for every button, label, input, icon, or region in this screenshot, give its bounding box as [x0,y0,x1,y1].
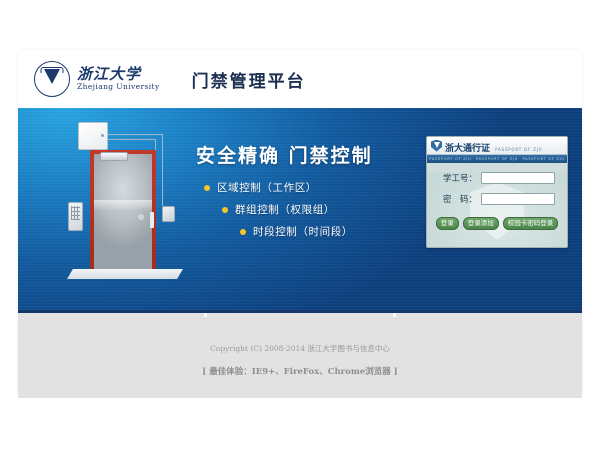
strip-word: PASSPORT OF ZJU [523,157,565,161]
door-leaf [94,154,152,272]
bullet-icon [204,185,210,191]
copyright-text: Copyright (C) 2008-2014 浙江大学图书与信息中心 [18,343,582,354]
feature-label: 群组控制（权限组） [235,202,335,217]
shield-icon [431,140,442,152]
page-container: 浙江大学 Zhejiang University 门禁管理平台 [18,50,582,395]
login-panel-watermark-strip: PASSPORT OF ZJU PASSPORT OF ZJU PASSPORT… [427,155,567,163]
username-input[interactable] [481,172,555,184]
login-button-row: 登录 登录添加 校园卡密码登录 [427,217,567,230]
site-footer: Copyright (C) 2008-2014 浙江大学图书与信息中心 [ 最佳… [18,310,582,398]
login-panel[interactable]: 浙大通行证 PASSPORT OF ZJU PASSPORT OF ZJU PA… [426,136,568,248]
controller-box-icon [78,122,108,150]
door-closer-icon [100,152,128,161]
wire-right [162,134,164,206]
footer-tab-segment [18,313,204,317]
browser-support-note: [ 最佳体验：IE9+、FireFox、Chrome浏览器 ] [18,365,582,377]
wire-top [106,134,162,136]
university-logo[interactable]: 浙江大学 Zhejiang University [34,61,160,97]
door-frame [90,150,156,272]
password-label: 密 码： [435,193,477,205]
bullet-icon [222,207,228,213]
card-reader-icon [162,206,175,222]
username-row: 学工号： [435,172,567,184]
hero-banner: 安全精确 门禁控制 区域控制（工作区） 群组控制（权限组） 时段控制（时间段） … [18,108,582,310]
security-door-illustration [46,114,196,304]
login-panel-title-en: PASSPORT OF ZJU [495,147,542,152]
strip-word: PASSPORT OF ZJU [476,157,518,161]
shield-watermark-icon [470,182,524,240]
zju-seal-icon [34,61,70,97]
feature-list: 区域控制（工作区） 群组控制（权限组） 时段控制（时间段） [204,180,353,246]
feature-item-group: 群组控制（权限组） [222,202,353,217]
feature-label: 时段控制（时间段） [253,224,353,239]
door-handle-icon [150,212,154,228]
login-panel-title-cn: 浙大通行证 [445,144,490,154]
password-row: 密 码： [435,193,567,205]
floor-plate [67,269,183,279]
wire-top-2 [106,139,155,141]
site-header: 浙江大学 Zhejiang University 门禁管理平台 [18,50,582,108]
feature-label: 区域控制（工作区） [217,180,317,195]
feature-item-area: 区域控制（工作区） [204,180,353,195]
username-label: 学工号： [435,172,477,184]
login-panel-title-block: 浙大通行证 PASSPORT OF ZJU [445,136,542,155]
page-title: 门禁管理平台 [192,67,306,92]
door-knob-icon [138,214,144,220]
footer-tab-strip [18,313,582,317]
bullet-icon [240,229,246,235]
login-button[interactable]: 登录 [436,217,459,230]
login-add-button[interactable]: 登录添加 [463,217,499,230]
footer-tab-segment [393,313,582,317]
university-name-en: Zhejiang University [77,83,160,91]
strip-word: PASSPORT OF ZJU [429,157,471,161]
keypad-reader-icon [68,202,83,231]
university-name-cn: 浙江大学 [77,67,160,83]
login-panel-titlebar: 浙大通行证 PASSPORT OF ZJU [427,137,567,155]
university-names: 浙江大学 Zhejiang University [77,67,160,92]
login-panel-body: 学工号： 密 码： 登录 登录添加 校园卡密码登录 [427,172,567,248]
feature-item-time: 时段控制（时间段） [240,224,353,239]
footer-tab-segment [204,313,393,317]
password-input[interactable] [481,193,555,205]
banner-headline: 安全精确 门禁控制 [196,141,373,168]
campus-card-login-button[interactable]: 校园卡密码登录 [503,217,559,230]
